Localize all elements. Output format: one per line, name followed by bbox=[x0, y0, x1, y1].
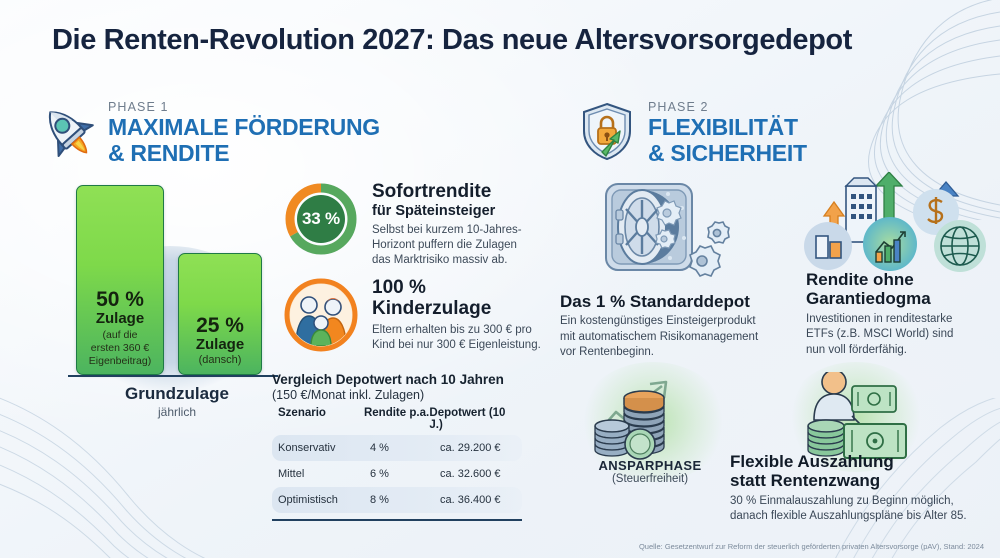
cell-return: 4 % bbox=[370, 442, 440, 454]
phase-1-title-line1: MAXIMALE FÖRDERUNG bbox=[108, 115, 380, 141]
table-row: Konservativ 4 % ca. 29.200 € bbox=[272, 435, 522, 461]
block-heading-line1: Flexible Auszahlung bbox=[730, 452, 998, 471]
cell-value: ca. 29.200 € bbox=[440, 442, 501, 454]
block-standarddepot: Das 1 % Standarddepot Ein kostengünstige… bbox=[560, 292, 785, 361]
block-rendite-garantiedogma: Rendite ohne Garantiedogma Investitionen… bbox=[806, 270, 998, 358]
feature-body-line3: das Marktrisiko massiv ab. bbox=[372, 253, 522, 268]
source-note: Quelle: Gesetzentwurf zur Reform der ste… bbox=[639, 542, 984, 551]
block-body-line2: mit automatischem Risikomanagement bbox=[560, 330, 785, 345]
bar-zulage-25: 25 % Zulage (dansch) bbox=[178, 253, 262, 375]
block-heading-line2: Garantiedogma bbox=[806, 289, 998, 308]
donut-value-label: 33 % bbox=[284, 182, 358, 256]
bar-note-line3: Eigenbeitrag) bbox=[89, 355, 151, 367]
block-body-line2: danach flexible Auszahlungspläne bis Alt… bbox=[730, 509, 998, 524]
block-body-line1: 30 % Einmalauszahlung zu Beginn möglich, bbox=[730, 494, 998, 509]
table-subtitle: (150 €/Monat inkl. Zulagen) bbox=[272, 388, 522, 402]
block-body-line2: ETFs (z.B. MSCI World) sind bbox=[806, 327, 998, 342]
grundzulage-bar-chart: 50 % Zulage (auf die ersten 360 € Eigenb… bbox=[62, 186, 292, 421]
ansparphase-sublabel: (Steuerfreiheit) bbox=[560, 473, 740, 485]
chart-bars: 50 % Zulage (auf die ersten 360 € Eigenb… bbox=[76, 185, 266, 375]
infographic-canvas: Die Renten-Revolution 2027: Das neue Alt… bbox=[0, 0, 1000, 558]
table-header-row: Szenario Rendite p.a. Depotwert (10 J.) bbox=[272, 407, 522, 435]
rocket-icon bbox=[36, 100, 98, 162]
feature-subheading: Kinderzulage bbox=[372, 299, 541, 320]
feature-body-line1: Eltern erhalten bis zu 300 € pro bbox=[372, 323, 541, 338]
feature-heading: 100 % bbox=[372, 278, 541, 299]
block-flexible-auszahlung: Flexible Auszahlung statt Rentenzwang 30… bbox=[730, 452, 998, 525]
block-heading: Das 1 % Standarddepot bbox=[560, 292, 785, 311]
table-col-return: Rendite p.a. bbox=[364, 407, 429, 431]
bar-note-line2: ersten 360 € bbox=[91, 342, 149, 354]
cell-return: 6 % bbox=[370, 468, 440, 480]
vault-gears-icon bbox=[600, 176, 732, 285]
chart-title: Grundzulage bbox=[62, 384, 292, 404]
coin-stack-growth-icon bbox=[588, 372, 704, 469]
table-col-value: Depotwert (10 J.) bbox=[429, 407, 516, 431]
bar-value-label: 25 % bbox=[196, 315, 244, 337]
bar-zulage-50: 50 % Zulage (auf die ersten 360 € Eigenb… bbox=[76, 185, 164, 375]
bar-note-line1: (auf die bbox=[102, 329, 137, 341]
bar-name-label: Zulage bbox=[196, 337, 244, 354]
block-heading-line1: Rendite ohne bbox=[806, 270, 998, 289]
phase-1-header: PHASE 1 MAXIMALE FÖRDERUNG & RENDITE bbox=[36, 96, 380, 167]
cell-value: ca. 36.400 € bbox=[440, 494, 501, 506]
feature-kinderzulage: 100 % Kinderzulage Eltern erhalten bis z… bbox=[284, 278, 541, 357]
phase-2-title-line2: & SICHERHEIT bbox=[648, 141, 807, 167]
block-body-line1: Investitionen in renditestarke bbox=[806, 312, 998, 327]
investment-growth-icon bbox=[800, 172, 996, 277]
cell-scenario: Optimistisch bbox=[278, 494, 370, 506]
block-body-line3: vor Rentenbeginn. bbox=[560, 345, 785, 360]
bar-value-label: 50 % bbox=[96, 289, 144, 311]
cell-scenario: Mittel bbox=[278, 468, 370, 480]
bar-note-line1: (dansch) bbox=[199, 354, 242, 367]
phase-2-title-line1: FLEXIBILITÄT bbox=[648, 115, 807, 141]
ansparphase-caption: ANSPARPHASE (Steuerfreiheit) bbox=[560, 458, 740, 485]
feature-body-line1: Selbst bei kurzem 10-Jahres- bbox=[372, 223, 522, 238]
table-row: Mittel 6 % ca. 32.600 € bbox=[272, 461, 522, 487]
feature-body-line2: Horizont puffern die Zulagen bbox=[372, 238, 522, 253]
donut-chart-icon: 33 % bbox=[284, 182, 358, 256]
ansparphase-label: ANSPARPHASE bbox=[560, 458, 740, 473]
cell-value: ca. 32.600 € bbox=[440, 468, 501, 480]
chart-baseline bbox=[68, 375, 278, 378]
table-bottom-rule bbox=[272, 519, 522, 521]
shield-lock-icon bbox=[576, 100, 638, 162]
feature-subheading: für Späteinsteiger bbox=[372, 203, 522, 220]
cell-scenario: Konservativ bbox=[278, 442, 370, 454]
phase-1-kicker: PHASE 1 bbox=[108, 100, 380, 114]
table-title: Vergleich Depotwert nach 10 Jahren bbox=[272, 372, 522, 388]
block-body-line1: Ein kostengünstiges Einsteigerprodukt bbox=[560, 314, 785, 329]
chart-caption: Grundzulage jährlich bbox=[62, 384, 292, 419]
phase-2-header: PHASE 2 FLEXIBILITÄT & SICHERHEIT bbox=[576, 96, 807, 167]
block-body-line3: nun voll förderfähig. bbox=[806, 343, 998, 358]
table-row: Optimistisch 8 % ca. 36.400 € bbox=[272, 487, 522, 513]
family-icon bbox=[284, 278, 358, 357]
feature-body-line2: Kind bei nur 300 € Eigenleistung. bbox=[372, 338, 541, 353]
depotwert-comparison-table: Vergleich Depotwert nach 10 Jahren (150 … bbox=[272, 372, 522, 521]
page-title: Die Renten-Revolution 2027: Das neue Alt… bbox=[52, 24, 852, 57]
bar-name-label: Zulage bbox=[96, 311, 144, 328]
table-col-scenario: Szenario bbox=[278, 407, 364, 431]
feature-heading: Sofortrendite bbox=[372, 182, 522, 203]
feature-sofortrendite: 33 % Sofortrendite für Späteinsteiger Se… bbox=[284, 182, 522, 268]
phase-1-title-line2: & RENDITE bbox=[108, 141, 380, 167]
cell-return: 8 % bbox=[370, 494, 440, 506]
block-heading-line2: statt Rentenzwang bbox=[730, 471, 998, 490]
phase-2-kicker: PHASE 2 bbox=[648, 100, 807, 114]
chart-subtitle: jährlich bbox=[62, 405, 292, 419]
